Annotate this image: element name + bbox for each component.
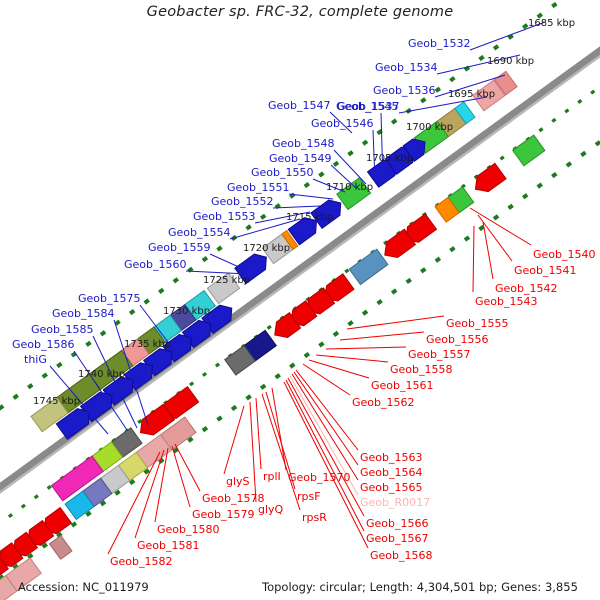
leader-line: [256, 398, 261, 469]
gene-label-rpli[interactable]: rplI: [263, 471, 281, 482]
leader-line: [316, 355, 388, 362]
scale-tick-label: 1690 kbp: [487, 56, 534, 67]
gene-label-geob_1579[interactable]: Geob_1579: [192, 509, 255, 520]
leader-line: [473, 226, 474, 292]
gene-label-glys[interactable]: glyS: [226, 476, 250, 487]
gene-label-geob_1559[interactable]: Geob_1559: [148, 242, 211, 253]
scale-rail-lower: [0, 120, 600, 600]
gene-label-geob_1548[interactable]: Geob_1548: [272, 138, 335, 149]
accession-text: Accession: NC_011979: [18, 580, 149, 594]
gene-label-geob_1561[interactable]: Geob_1561: [371, 380, 434, 391]
gene-label-geob_1568[interactable]: Geob_1568: [370, 550, 433, 561]
gene-label-geob_1560[interactable]: Geob_1560: [124, 259, 187, 270]
scale-tick-label: 1695 kbp: [448, 89, 495, 100]
scale-tick-label: 1720 kbp: [243, 243, 290, 254]
genome-map-view: Geobacter sp. FRC-32, complete genome: [0, 0, 600, 600]
gene-label-geob_1532[interactable]: Geob_1532: [408, 38, 471, 49]
scale-tick-label: 1735 kbp: [124, 339, 171, 350]
gene-label-geob_1582[interactable]: Geob_1582: [110, 556, 173, 567]
gene-label-geob_1565[interactable]: Geob_1565: [360, 482, 423, 493]
leader-line: [250, 402, 256, 502]
scale-tick-label: 1740 kbp: [78, 369, 125, 380]
leader-line: [470, 208, 531, 245]
leader-line: [478, 215, 512, 261]
leader-line: [340, 332, 424, 340]
scale-tick-label: 1700 kbp: [406, 122, 453, 133]
gene-label-rpsr[interactable]: rpsR: [302, 512, 327, 523]
gene-label-geob_1543[interactable]: Geob_1543: [475, 296, 538, 307]
gene-label-geob_1558[interactable]: Geob_1558: [390, 364, 453, 375]
leader-line: [326, 347, 406, 349]
gene-label-geob_1555[interactable]: Geob_1555: [446, 318, 509, 329]
leader-line: [294, 372, 358, 465]
gene-label-geob_1550[interactable]: Geob_1550: [251, 167, 314, 178]
gene-label-geob_1585[interactable]: Geob_1585: [31, 324, 94, 335]
gene-label-geob_1580[interactable]: Geob_1580: [157, 524, 220, 535]
gene-label-geob_1557[interactable]: Geob_1557: [408, 349, 471, 360]
gene-label-geob_1545[interactable]: Geob_1545: [336, 101, 399, 112]
scale-tick-label: 1745 kbp: [33, 396, 80, 407]
gene-label-geob_1540[interactable]: Geob_1540: [533, 249, 596, 260]
gene-label-geob_1536[interactable]: Geob_1536: [373, 85, 436, 96]
gene-label-geob_1541[interactable]: Geob_1541: [514, 265, 577, 276]
gene-label-geob_1562[interactable]: Geob_1562: [352, 397, 415, 408]
gene-label-geob_1534[interactable]: Geob_1534: [375, 62, 438, 73]
gene-label-glyq[interactable]: glyQ: [258, 504, 283, 515]
gene-label-geob_1564[interactable]: Geob_1564: [360, 467, 423, 478]
scale-tick-label: 1705 kbp: [366, 153, 413, 164]
gene-label-geob_1546[interactable]: Geob_1546: [311, 118, 374, 129]
gene-label-geob_1567[interactable]: Geob_1567: [366, 533, 429, 544]
gene-label-geob_1547[interactable]: Geob_1547: [268, 100, 331, 111]
leader-line: [289, 194, 333, 199]
scale-tick-label: 1725 kbp: [203, 275, 250, 286]
leader-line: [303, 364, 350, 395]
leader-line: [224, 406, 244, 474]
scale-tick-label: 1730 kbp: [163, 306, 210, 317]
gene-label-geob_1551[interactable]: Geob_1551: [227, 182, 290, 193]
gene-label-geob_1552[interactable]: Geob_1552: [211, 196, 274, 207]
gene-label-geob_1554[interactable]: Geob_1554: [168, 227, 231, 238]
scale-tick-label: 1710 kbp: [326, 182, 373, 193]
gene-label-geob_1584[interactable]: Geob_1584: [52, 308, 115, 319]
scale-tick-label: 1685 kbp: [528, 18, 575, 29]
gene-label-geob_1556[interactable]: Geob_1556: [426, 334, 489, 345]
gene-label-geob_1578[interactable]: Geob_1578: [202, 493, 265, 504]
leader-line: [309, 360, 369, 378]
gene-label-geob_1553[interactable]: Geob_1553: [193, 211, 256, 222]
leader-line: [483, 222, 493, 279]
leader-line: [272, 388, 286, 470]
gene-label-geob_1549[interactable]: Geob_1549: [269, 153, 332, 164]
scale-tick-label: 1715 kbp: [286, 212, 333, 223]
genome-summary-text: Topology: circular; Length: 4,304,501 bp…: [262, 580, 578, 594]
gene-label-geob_1542[interactable]: Geob_1542: [495, 283, 558, 294]
gene-label-geob_1581[interactable]: Geob_1581: [137, 540, 200, 551]
gene-label-rpsf[interactable]: rpsF: [297, 491, 321, 502]
gene-label-geob_1570[interactable]: Geob_1570: [288, 472, 351, 483]
gene-label-thig[interactable]: thiG: [24, 354, 47, 365]
gene-label-geob_r0017[interactable]: Geob_R0017: [360, 497, 430, 508]
gene-label-geob_1575[interactable]: Geob_1575: [78, 293, 141, 304]
gene-label-geob_1566[interactable]: Geob_1566: [366, 518, 429, 529]
gene-label-geob_1586[interactable]: Geob_1586: [12, 339, 75, 350]
gene-label-geob_1563[interactable]: Geob_1563: [360, 452, 423, 463]
leader-line: [347, 316, 444, 329]
leader-line: [262, 394, 300, 510]
reverse-strand-features: [0, 135, 572, 600]
